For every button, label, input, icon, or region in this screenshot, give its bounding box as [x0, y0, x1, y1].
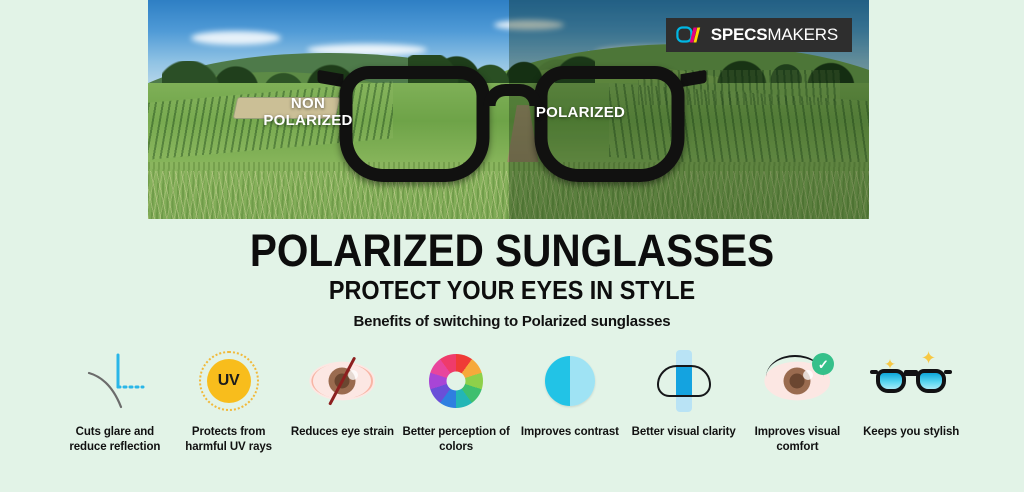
label-non-polarized: NON POLARIZED	[253, 96, 363, 130]
page-tagline: Benefits of switching to Polarized sungl…	[0, 313, 1024, 330]
bridge	[483, 84, 541, 106]
specsmakers-logo[interactable]: SPECSMAKERS	[666, 18, 852, 52]
uv-dotted-ring: UV	[199, 351, 259, 411]
sunglasses-overlay	[340, 66, 685, 184]
benefit-label: Improves contrast	[521, 425, 619, 440]
eye-shape	[309, 359, 375, 403]
sunglasses-sparkle-icon: ✦ ✦	[854, 345, 968, 417]
logo-wordmark: SPECSMAKERS	[711, 25, 838, 45]
benefit-color-perception: Better perception of colors	[399, 345, 513, 454]
check-icon: ✓	[812, 353, 834, 375]
sunglasses-bridge	[904, 370, 918, 376]
glare-reflection-icon	[58, 345, 172, 417]
benefit-label: Protects from harmful UV rays	[172, 425, 286, 454]
eye-shape: ✓	[764, 359, 830, 403]
benefit-label: Better perception of colors	[399, 425, 513, 454]
benefit-improves-contrast: Improves contrast	[513, 345, 627, 440]
contrast-dark-half	[545, 356, 570, 406]
benefit-label: Better visual clarity	[632, 425, 736, 440]
sunglasses-lens-left	[876, 369, 906, 393]
color-wheel-icon	[399, 345, 513, 417]
lens-outline	[657, 365, 711, 397]
page-title: POLARIZED SUNGLASSES	[51, 228, 973, 273]
eye-strain-blocked-icon	[286, 345, 400, 417]
benefit-label: Reduces eye strain	[291, 425, 394, 440]
eye-check-icon: ✓	[741, 345, 855, 417]
color-wheel	[429, 354, 483, 408]
benefit-visual-comfort: ✓ Improves visual comfort	[741, 345, 855, 454]
logo-makers-text: MAKERS	[767, 25, 838, 45]
contrast-light-half	[570, 356, 595, 406]
benefit-reduces-eye-strain: Reduces eye strain	[286, 345, 400, 440]
benefit-label: Cuts glare and reduce reflection	[58, 425, 172, 454]
label-non-line2: POLARIZED	[263, 112, 352, 129]
sunglasses-shape: ✦ ✦	[874, 359, 948, 403]
sunglasses-arm-right	[944, 370, 952, 374]
benefit-visual-clarity: Better visual clarity	[627, 345, 741, 440]
poster-root: SPECSMAKERS NON POLARIZED POLARIZED POLA…	[0, 0, 1024, 492]
page-subtitle: PROTECT YOUR EYES IN STYLE	[51, 277, 973, 303]
contrast-circle-icon	[513, 345, 627, 417]
lens-right-polarized	[535, 66, 685, 182]
benefit-keeps-you-stylish: ✦ ✦ Keeps you stylish	[854, 345, 968, 440]
benefit-uv-protection: UV Protects from harmful UV rays	[172, 345, 286, 454]
specs-lens-icon	[676, 25, 702, 45]
benefits-row: Cuts glare and reduce reflection UV Prot…	[58, 345, 968, 454]
sparkle-icon: ✦	[884, 357, 896, 371]
sparkle-icon: ✦	[921, 349, 936, 367]
contrast-circle	[545, 356, 595, 406]
sunglasses-lens-right	[916, 369, 946, 393]
benefit-cuts-glare: Cuts glare and reduce reflection	[58, 345, 172, 454]
uv-shield-icon: UV	[172, 345, 286, 417]
label-non-line1: NON	[291, 95, 325, 112]
cloud	[191, 31, 281, 45]
label-polarized: POLARIZED	[523, 105, 638, 122]
benefit-label: Keeps you stylish	[863, 425, 959, 440]
clarity-lens-group	[653, 350, 715, 412]
uv-badge: UV	[207, 359, 251, 403]
logo-specs-text: SPECS	[711, 25, 768, 45]
lens-clarity-icon	[627, 345, 741, 417]
benefit-label: Improves visual comfort	[741, 425, 855, 454]
